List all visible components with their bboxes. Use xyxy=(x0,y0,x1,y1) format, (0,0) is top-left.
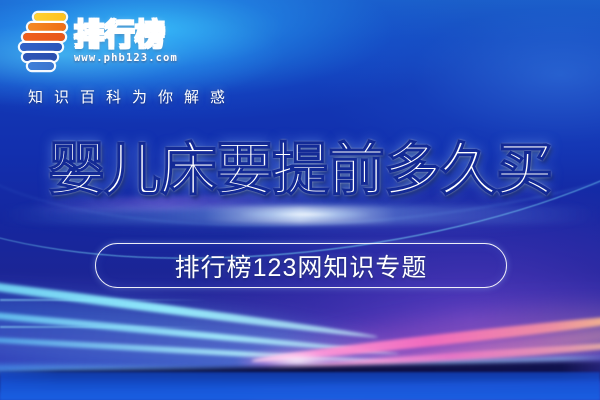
stacked-bars-logo-icon xyxy=(18,12,68,70)
background-floor-blue xyxy=(0,372,600,400)
logo-bar-3 xyxy=(23,33,65,41)
logo-bar-4 xyxy=(20,43,62,51)
logo-bar-6 xyxy=(28,62,54,70)
logo-url: www.phb123.com xyxy=(74,52,178,64)
logo-bar-5 xyxy=(23,53,57,61)
site-logo[interactable]: 排行榜 www.phb123.com xyxy=(18,12,178,70)
logo-text-group: 排行榜 www.phb123.com xyxy=(74,19,178,64)
logo-title: 排行榜 xyxy=(74,21,178,51)
page-title: 婴儿床要提前多久买 xyxy=(0,139,600,203)
logo-bar-1 xyxy=(34,13,66,21)
promo-banner: 排行榜 www.phb123.com 知识百科为你解惑 婴儿床要提前多久买 排行… xyxy=(0,0,600,400)
site-tagline: 知识百科为你解惑 xyxy=(28,86,236,107)
logo-bar-2 xyxy=(28,23,66,31)
background-mid-streak-hotspot xyxy=(240,210,370,219)
subtitle-pill: 排行榜123网知识专题 xyxy=(95,243,507,288)
subtitle-label: 排行榜123网知识专题 xyxy=(175,248,428,284)
